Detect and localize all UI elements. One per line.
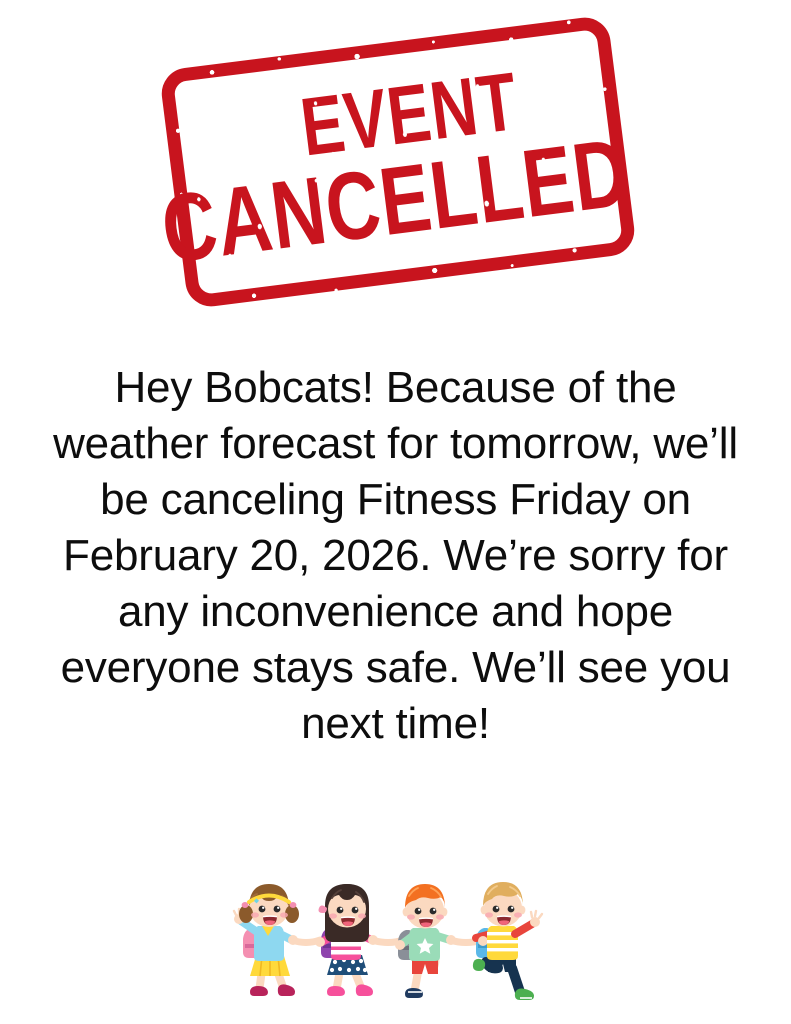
announcement-message: Hey Bobcats! Because of the weather fore…: [36, 360, 755, 752]
child-boy-blond-striped-shirt: [473, 882, 542, 1000]
stamp-line-cancelled: CANCELLED: [157, 128, 633, 274]
event-cancelled-stamp: EVENT CANCELLED: [172, 42, 624, 282]
child-girl-brown-pigtails: [234, 884, 299, 996]
child-girl-dark-long-hair: [315, 884, 378, 996]
poster-page: EVENT CANCELLED Hey Bobcats! Because of …: [0, 0, 791, 1024]
four-children-illustration: [232, 872, 562, 1017]
children-svg: [232, 872, 562, 1017]
stamp-text-group: EVENT CANCELLED: [159, 15, 638, 310]
child-boy-ginger-hair: [395, 884, 456, 998]
